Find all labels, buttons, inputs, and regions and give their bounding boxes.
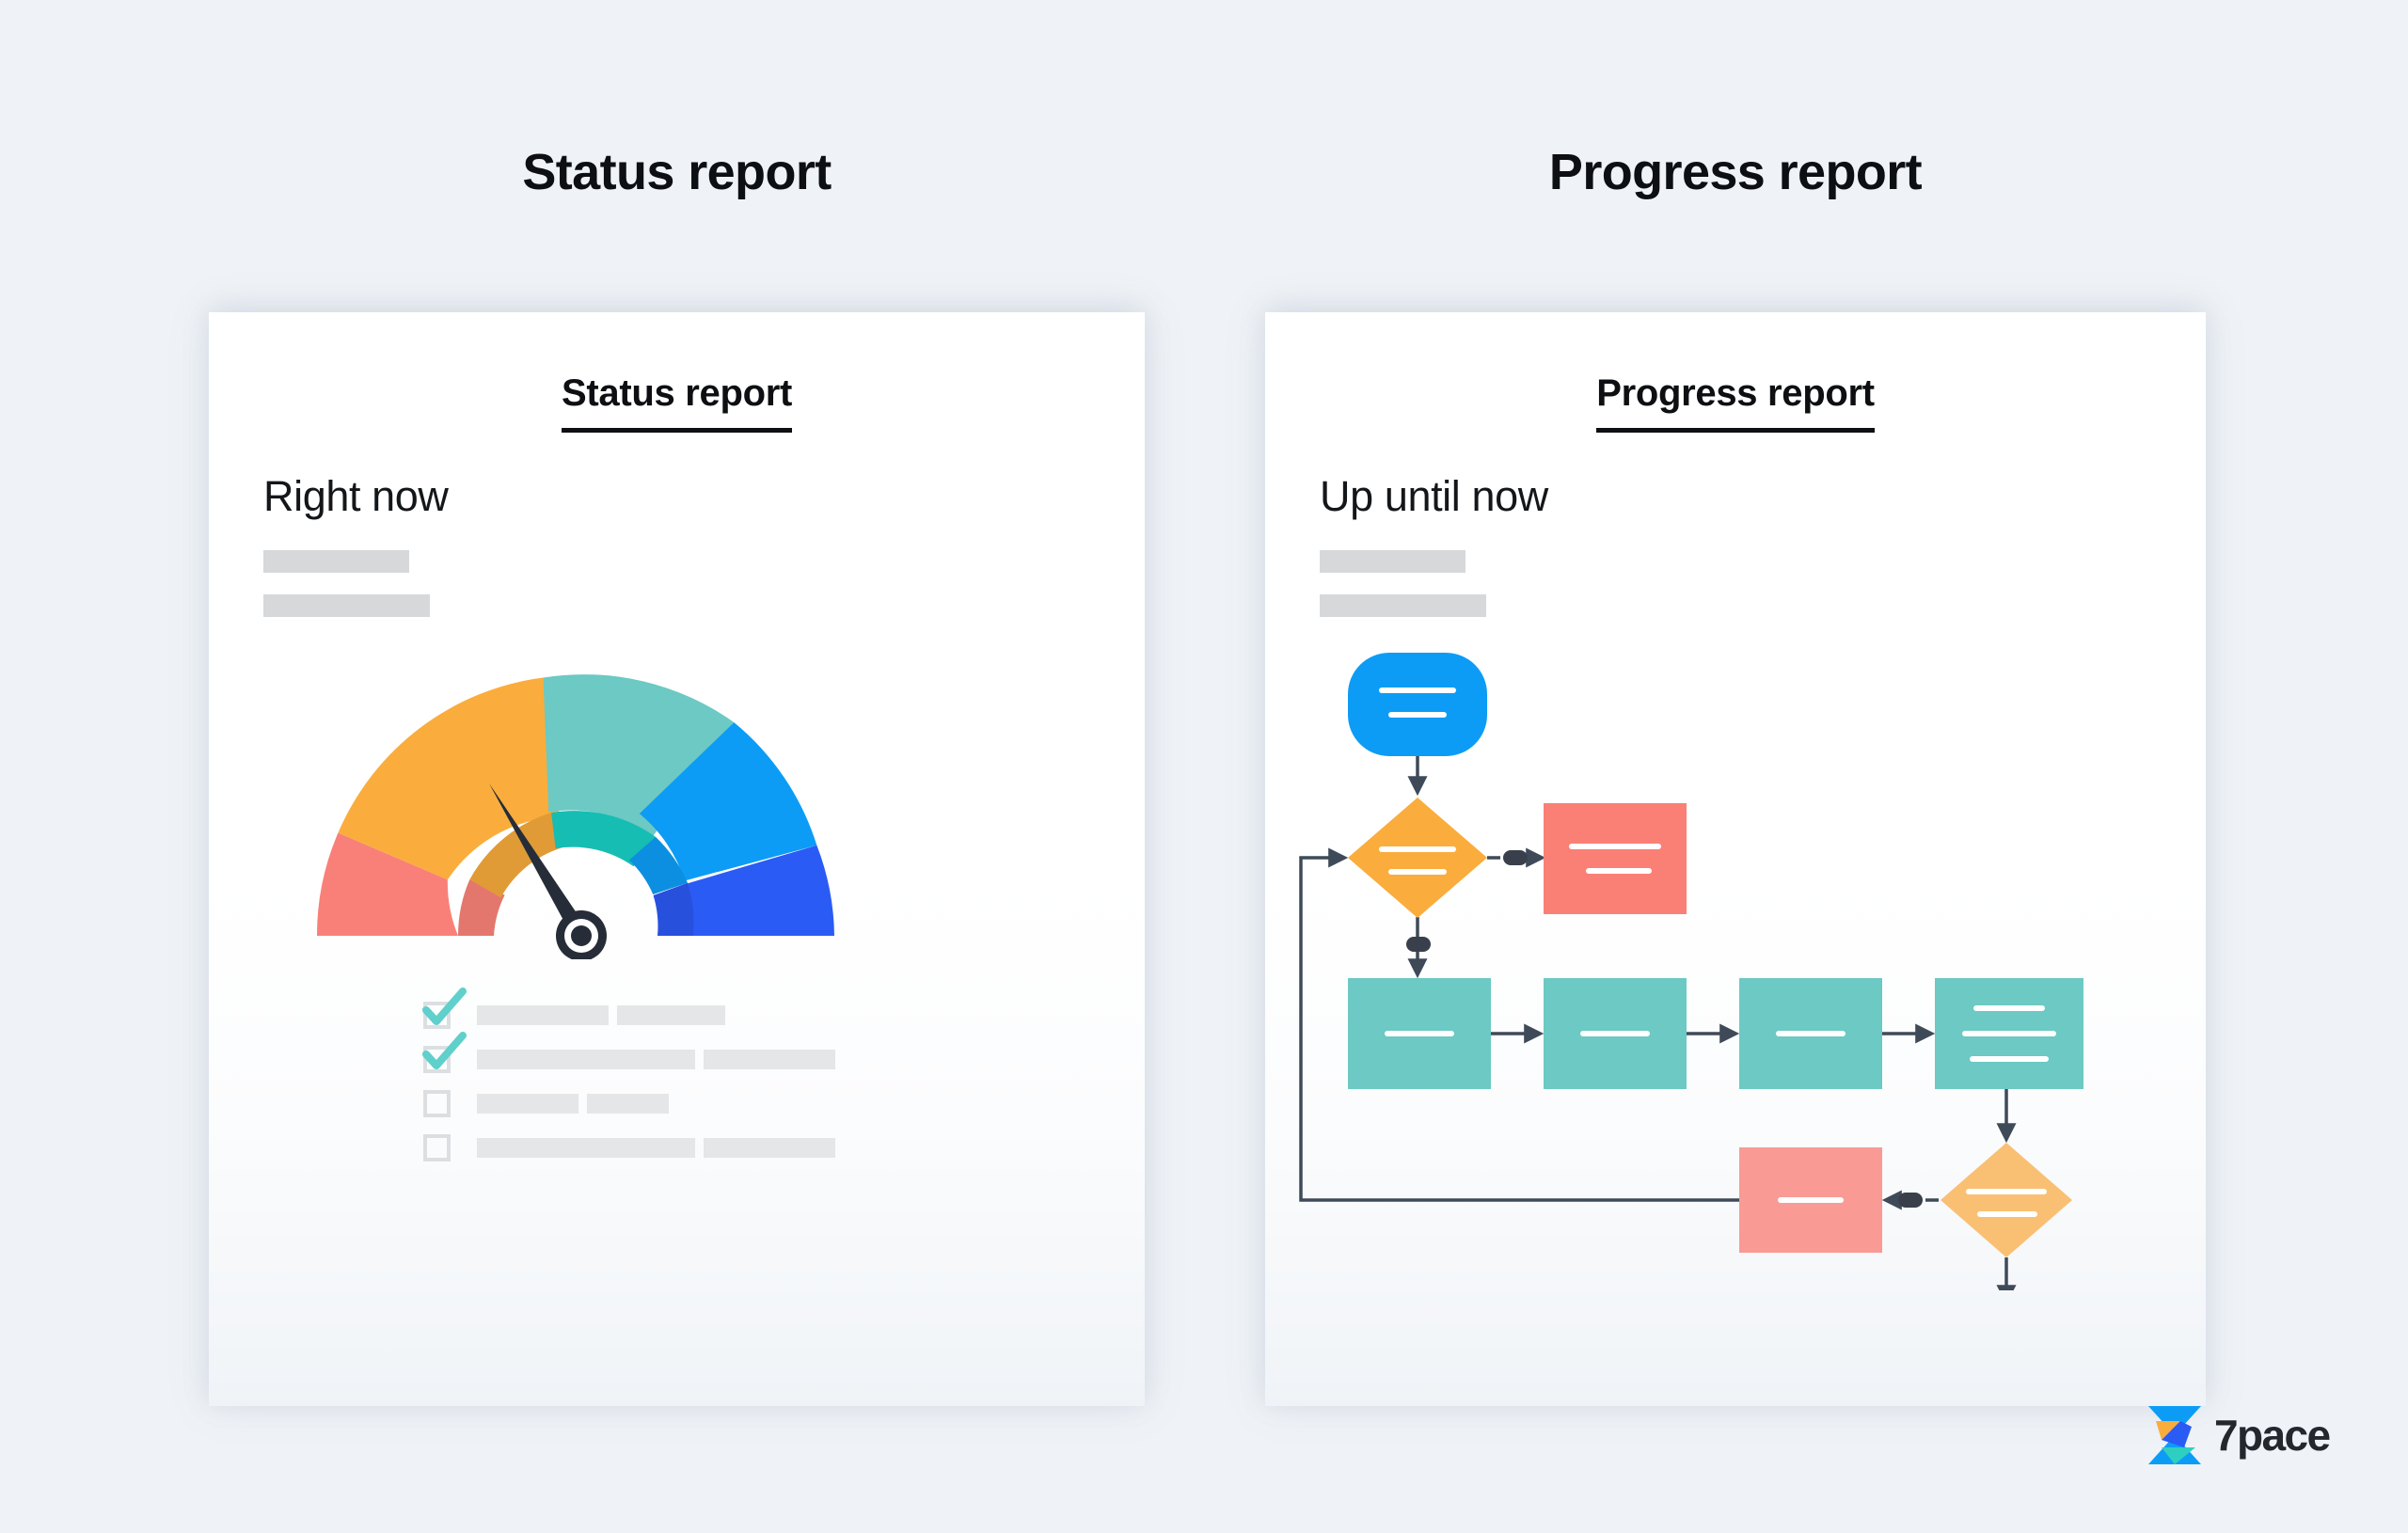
checkbox-unchecked[interactable]: [423, 1134, 451, 1162]
status-card-title-text: Status report: [562, 372, 792, 433]
sevenpace-wordmark: 7pace: [2214, 1410, 2329, 1461]
checklist-bar: [617, 1005, 725, 1025]
progress-flowchart: [1265, 632, 2206, 1290]
checklist-bar: [477, 1138, 695, 1158]
checklist-bar: [477, 1005, 609, 1025]
checklist-row[interactable]: [423, 1037, 950, 1082]
node-step-2[interactable]: [1544, 978, 1687, 1089]
progress-placeholder-bar-2: [1320, 594, 1486, 617]
checklist-row-bars: [477, 1138, 835, 1158]
status-report-card: Status report Right now: [209, 312, 1145, 1406]
status-placeholder-bar-1: [263, 550, 409, 573]
checklist-bar: [587, 1094, 669, 1114]
node-step-4[interactable]: [1935, 978, 2083, 1089]
node-decision-1[interactable]: [1348, 798, 1487, 918]
brand-logo: 7pace: [2147, 1404, 2329, 1466]
progress-card-subtitle: Up until now: [1320, 472, 1548, 521]
checklist-row-bars: [477, 1050, 835, 1069]
gauge-svg: [293, 649, 858, 959]
checklist-bar: [477, 1050, 695, 1069]
node-step-1[interactable]: [1348, 978, 1491, 1089]
checklist-row-bars: [477, 1094, 669, 1114]
edge-badge: [1503, 850, 1528, 865]
checkbox-checked[interactable]: [423, 1002, 451, 1029]
edge-badge: [1406, 937, 1431, 952]
status-placeholder-bar-2: [263, 594, 430, 617]
node-start[interactable]: [1348, 653, 1487, 756]
progress-card-title-text: Progress report: [1596, 372, 1875, 433]
section-heading-status: Status report: [209, 143, 1145, 201]
edge-badge: [1898, 1193, 1923, 1208]
checklist-row-bars: [477, 1005, 725, 1025]
checklist-bar: [704, 1050, 835, 1069]
checkbox-checked[interactable]: [423, 1046, 451, 1073]
checklist-bar: [477, 1094, 578, 1114]
check-icon: [422, 990, 466, 1030]
progress-card-title: Progress report: [1265, 372, 2206, 433]
progress-placeholder-bar-1: [1320, 550, 1465, 573]
node-step-3[interactable]: [1739, 978, 1882, 1089]
check-icon: [422, 1035, 466, 1074]
gauge-chart: [293, 649, 858, 959]
status-card-title: Status report: [209, 372, 1145, 433]
checkbox-unchecked[interactable]: [423, 1090, 451, 1117]
status-card-subtitle: Right now: [263, 472, 449, 521]
checklist-bar: [704, 1138, 835, 1158]
node-decision-2[interactable]: [1941, 1143, 2072, 1257]
progress-report-card: Progress report Up until now: [1265, 312, 2206, 1406]
checklist-row[interactable]: [423, 1126, 950, 1170]
section-heading-progress: Progress report: [1265, 143, 2206, 201]
node-reject-1[interactable]: [1544, 803, 1687, 914]
node-rework[interactable]: [1739, 1147, 1882, 1253]
poster-canvas: Status report Progress report Status rep…: [0, 0, 2408, 1533]
flowchart-nodes: [1348, 653, 2085, 1290]
sevenpace-mark-icon: [2147, 1404, 2203, 1466]
flowchart-svg: [1265, 632, 2206, 1290]
checklist-row[interactable]: [423, 1082, 950, 1126]
status-checklist: [423, 993, 950, 1170]
checklist-row[interactable]: [423, 993, 950, 1037]
gauge-segments-outer: [317, 674, 834, 936]
